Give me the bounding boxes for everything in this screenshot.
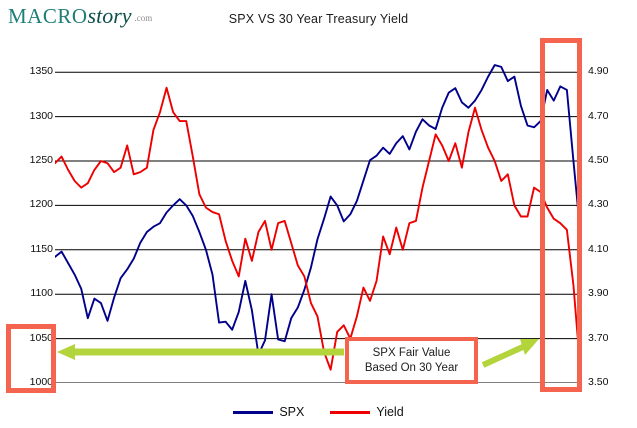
y-axis-right-tick-3-7: 3.70: [588, 332, 634, 344]
callout-line-2: Based On 30 Year: [365, 361, 458, 375]
plot-area: [55, 50, 580, 383]
y-axis-right-tick-4-1: 4.10: [588, 243, 634, 255]
y-axis-right-tick-4-5: 4.50: [588, 154, 634, 166]
chart-legend: SPX Yield: [0, 405, 637, 419]
y-axis-right-tick-4-3: 4.30: [588, 198, 634, 210]
legend-swatch-yield: [330, 411, 370, 414]
chart-title: SPX VS 30 Year Treasury Yield: [0, 12, 637, 26]
legend-swatch-spx: [233, 411, 273, 414]
y-axis-left-tick-1350: 1350: [7, 65, 53, 77]
y-axis-left-tick-1200: 1200: [7, 198, 53, 210]
y-axis-left-tick-1100: 1100: [7, 287, 53, 299]
callout-line-1: SPX Fair Value: [373, 346, 451, 360]
highlight-box-left-axis: [6, 324, 56, 393]
legend-item-yield: Yield: [330, 405, 403, 419]
y-axis-right-tick-4-7: 4.70: [588, 110, 634, 122]
chart-screenshot: MACROstory.com SPX VS 30 Year Treasury Y…: [0, 0, 637, 428]
y-axis-left-tick-1250: 1250: [7, 154, 53, 166]
chart-svg: [55, 50, 580, 383]
y-axis-right-tick-3-9: 3.90: [588, 287, 634, 299]
highlight-box-right-period: [540, 38, 582, 392]
y-axis-left-tick-1150: 1150: [7, 243, 53, 255]
y-axis-right-tick-4-9: 4.90: [588, 65, 634, 77]
y-axis-left-tick-1300: 1300: [7, 110, 53, 122]
legend-label-spx: SPX: [279, 405, 304, 419]
legend-label-yield: Yield: [376, 405, 403, 419]
annotation-callout: SPX Fair Value Based On 30 Year: [345, 337, 478, 384]
legend-item-spx: SPX: [233, 405, 304, 419]
y-axis-right-tick-3-5: 3.50: [588, 376, 634, 388]
